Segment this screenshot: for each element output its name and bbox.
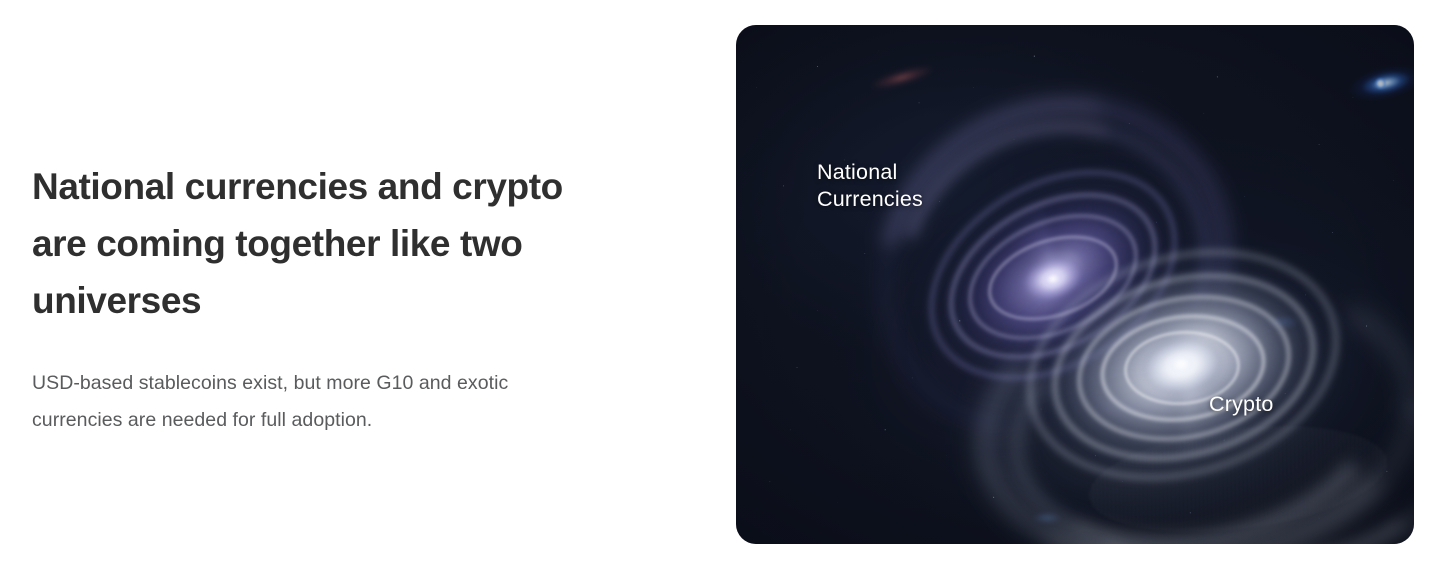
galaxy-illustration-panel: National Currencies Crypto	[736, 25, 1414, 544]
white-galaxy-spiral-ring-1-icon	[999, 213, 1367, 516]
faint-blue-cloud-icon	[1032, 512, 1062, 524]
faint-blue-cloud-secondary-icon	[1266, 315, 1300, 329]
text-column: National currencies and crypto are comin…	[32, 158, 632, 439]
white-galaxy-disk-icon	[1010, 222, 1358, 509]
blue-star-core-icon	[1374, 77, 1387, 90]
white-galaxy-arm-striations-icon	[1083, 411, 1393, 544]
purple-galaxy-spiral-ring-4-icon	[977, 220, 1129, 336]
galaxy-label-crypto: Crypto	[1209, 391, 1274, 418]
white-galaxy-spiral-ring-3-icon	[1064, 276, 1305, 460]
page-title: National currencies and crypto are comin…	[32, 158, 572, 329]
blue-star-glow-icon	[1346, 59, 1414, 106]
white-galaxy-icon	[968, 243, 1414, 544]
purple-galaxy-spiral-ring-1-icon	[892, 128, 1215, 423]
panel-vignette	[736, 25, 1414, 544]
white-galaxy-outer-arm-icon	[956, 246, 1414, 544]
white-galaxy-outer-arm-secondary-icon	[987, 264, 1411, 544]
purple-galaxy-core-icon	[1013, 247, 1093, 311]
feature-section: National currencies and crypto are comin…	[0, 0, 1441, 571]
purple-galaxy-icon	[854, 97, 1254, 497]
purple-galaxy-outer-arm-secondary-icon	[845, 67, 1264, 473]
subheading-text: USD-based stablecoins exist, but more G1…	[32, 365, 577, 439]
purple-galaxy-outer-arm-icon	[811, 30, 1296, 505]
white-galaxy-dust-lanes-icon	[1041, 250, 1329, 484]
galaxy-label-national-currencies: National Currencies	[817, 159, 923, 213]
purple-galaxy-spiral-ring-2-icon	[921, 159, 1186, 392]
purple-galaxy-halo-icon	[768, 25, 1340, 544]
starfield-layer-mid-icon	[736, 25, 1414, 544]
purple-galaxy-core-highlight-icon	[1038, 266, 1068, 292]
purple-galaxy-spiral-ring-3-icon	[949, 190, 1157, 365]
white-galaxy-core-highlight-icon	[1162, 348, 1200, 380]
white-galaxy-halo-icon	[909, 167, 1414, 544]
purple-galaxy-dust-lanes-icon	[930, 162, 1185, 391]
red-nebula-icon	[868, 61, 936, 94]
starfield-layer-bright-icon	[736, 25, 1414, 544]
purple-galaxy-disk-icon	[900, 136, 1206, 414]
white-galaxy-spiral-ring-2-icon	[1031, 245, 1336, 488]
starfield-layer-faint-icon	[736, 25, 1414, 544]
white-galaxy-lower-arm-icon	[1018, 353, 1414, 544]
